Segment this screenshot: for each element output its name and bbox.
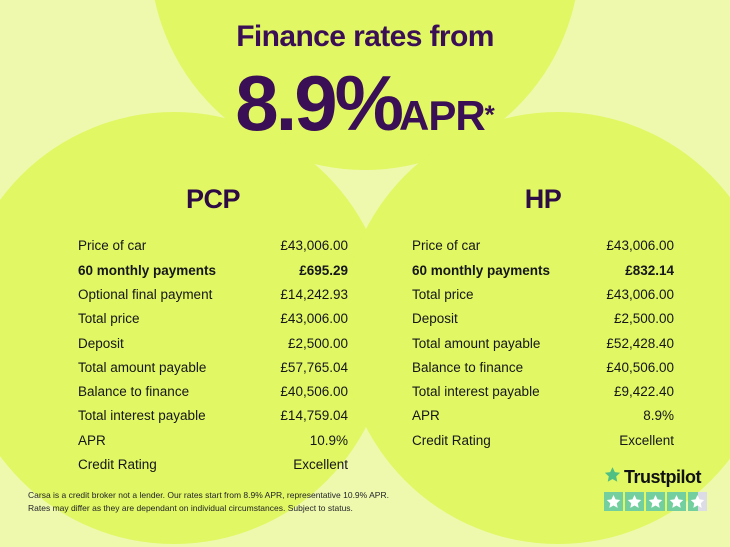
plan-row-label: Optional final payment bbox=[78, 288, 212, 302]
trustpilot-star-rating bbox=[604, 492, 716, 511]
finance-rates-banner: Finance rates from 8.9%APR* PCP Price of… bbox=[0, 0, 730, 547]
plan-row-label: Deposit bbox=[412, 312, 458, 326]
plan-row: 60 monthly payments£695.29 bbox=[78, 258, 348, 282]
rating-star-filled-icon bbox=[667, 492, 686, 511]
headline-subtitle: Finance rates from bbox=[0, 0, 730, 52]
headline-rate-group: 8.9%APR* bbox=[0, 64, 730, 142]
plan-row-value: £695.29 bbox=[299, 264, 348, 278]
plan-rows-pcp: Price of car£43,006.0060 monthly payment… bbox=[78, 234, 348, 477]
plan-row-value: £40,506.00 bbox=[606, 361, 674, 375]
plan-row-label: Credit Rating bbox=[78, 458, 157, 472]
plan-rows-hp: Price of car£43,006.0060 monthly payment… bbox=[412, 234, 674, 453]
plan-row: Deposit£2,500.00 bbox=[78, 331, 348, 355]
plan-row-label: Deposit bbox=[78, 337, 124, 351]
headline-rate-value: 8.9% bbox=[235, 59, 401, 147]
headline-apr-label: APR bbox=[399, 92, 485, 139]
plan-row-value: £43,006.00 bbox=[280, 312, 348, 326]
plan-row-label: Price of car bbox=[412, 239, 480, 253]
plan-row: Deposit£2,500.00 bbox=[412, 307, 674, 331]
plan-row: Total amount payable£52,428.40 bbox=[412, 331, 674, 355]
plan-column-hp: HP Price of car£43,006.0060 monthly paym… bbox=[412, 186, 674, 453]
rating-star-filled-icon bbox=[625, 492, 644, 511]
plan-row: Price of car£43,006.00 bbox=[78, 234, 348, 258]
plan-row-label: APR bbox=[78, 434, 106, 448]
banner-header: Finance rates from 8.9%APR* bbox=[0, 0, 730, 142]
plan-row-label: Total price bbox=[78, 312, 140, 326]
plan-row-label: 60 monthly payments bbox=[412, 264, 550, 278]
plan-row-value: £43,006.00 bbox=[606, 239, 674, 253]
plan-row-value: £43,006.00 bbox=[606, 288, 674, 302]
plan-row: Total amount payable£57,765.04 bbox=[78, 355, 348, 379]
plan-row: Balance to finance£40,506.00 bbox=[78, 380, 348, 404]
plan-row-value: £57,765.04 bbox=[280, 361, 348, 375]
trustpilot-star-icon bbox=[604, 466, 621, 488]
rating-star-filled-icon bbox=[646, 492, 665, 511]
plan-row-label: Total interest payable bbox=[78, 409, 206, 423]
trustpilot-brand: Trustpilot bbox=[604, 466, 716, 488]
plan-row-value: £40,506.00 bbox=[280, 385, 348, 399]
plan-row: Total interest payable£9,422.40 bbox=[412, 380, 674, 404]
plan-row-label: Balance to finance bbox=[78, 385, 189, 399]
plan-row-value: £43,006.00 bbox=[280, 239, 348, 253]
plan-row-label: Credit Rating bbox=[412, 434, 491, 448]
plan-row: Credit RatingExcellent bbox=[412, 428, 674, 452]
headline-asterisk: * bbox=[485, 100, 495, 130]
plan-row: APR10.9% bbox=[78, 428, 348, 452]
plan-title-pcp: PCP bbox=[78, 186, 348, 213]
plan-row-value: £52,428.40 bbox=[606, 337, 674, 351]
plan-row: Price of car£43,006.00 bbox=[412, 234, 674, 258]
plan-row-value: £9,422.40 bbox=[614, 385, 674, 399]
plan-row-label: Total amount payable bbox=[412, 337, 540, 351]
rating-star-half-icon bbox=[688, 492, 707, 511]
plan-row: Total price£43,006.00 bbox=[78, 307, 348, 331]
disclaimer-line-1: Carsa is a credit broker not a lender. O… bbox=[28, 489, 458, 502]
plan-row-value: £14,242.93 bbox=[280, 288, 348, 302]
legal-disclaimer: Carsa is a credit broker not a lender. O… bbox=[28, 489, 458, 515]
plan-row-value: 8.9% bbox=[643, 409, 674, 423]
disclaimer-line-2: Rates may differ as they are dependant o… bbox=[28, 502, 458, 515]
plan-row-value: £832.14 bbox=[625, 264, 674, 278]
plan-column-pcp: PCP Price of car£43,006.0060 monthly pay… bbox=[78, 186, 348, 477]
plan-row: Optional final payment£14,242.93 bbox=[78, 283, 348, 307]
plan-row-value: £2,500.00 bbox=[614, 312, 674, 326]
plan-row-label: 60 monthly payments bbox=[78, 264, 216, 278]
trustpilot-wordmark: Trustpilot bbox=[624, 468, 701, 486]
plan-row-value: 10.9% bbox=[310, 434, 348, 448]
plan-row: 60 monthly payments£832.14 bbox=[412, 258, 674, 282]
plan-row: Total interest payable£14,759.04 bbox=[78, 404, 348, 428]
plan-row: Balance to finance£40,506.00 bbox=[412, 355, 674, 379]
plan-row-label: Total interest payable bbox=[412, 385, 540, 399]
plan-row-label: APR bbox=[412, 409, 440, 423]
plan-title-hp: HP bbox=[412, 186, 674, 213]
plan-row-label: Total amount payable bbox=[78, 361, 206, 375]
plan-row: Total price£43,006.00 bbox=[412, 283, 674, 307]
plan-row: APR8.9% bbox=[412, 404, 674, 428]
plan-row-value: Excellent bbox=[293, 458, 348, 472]
plan-row-label: Total price bbox=[412, 288, 474, 302]
rating-star-filled-icon bbox=[604, 492, 623, 511]
plan-row: Credit RatingExcellent bbox=[78, 453, 348, 477]
trustpilot-rating[interactable]: Trustpilot bbox=[604, 466, 716, 511]
plan-row-value: £14,759.04 bbox=[280, 409, 348, 423]
plan-row-label: Price of car bbox=[78, 239, 146, 253]
plan-row-label: Balance to finance bbox=[412, 361, 523, 375]
plan-row-value: £2,500.00 bbox=[288, 337, 348, 351]
plan-row-value: Excellent bbox=[619, 434, 674, 448]
